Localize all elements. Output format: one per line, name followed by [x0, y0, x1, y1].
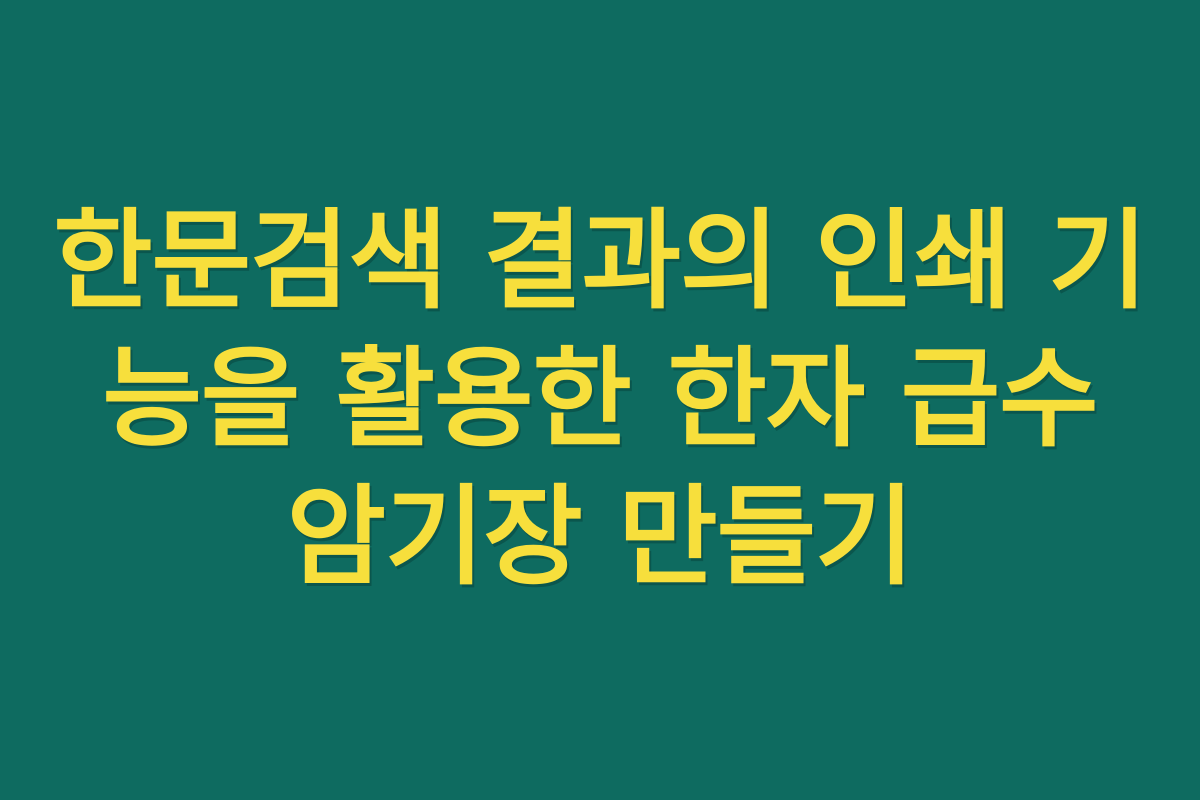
title-line-3: 암기장 만들기	[287, 469, 914, 607]
title-line-1: 한문검색 결과의 인쇄 기	[53, 193, 1146, 331]
thumbnail-card: 한문검색 결과의 인쇄 기 능을 활용한 한자 급수 암기장 만들기	[0, 0, 1200, 800]
page-title: 한문검색 결과의 인쇄 기 능을 활용한 한자 급수 암기장 만들기	[70, 193, 1130, 607]
title-line-2: 능을 활용한 한자 급수	[102, 331, 1097, 469]
